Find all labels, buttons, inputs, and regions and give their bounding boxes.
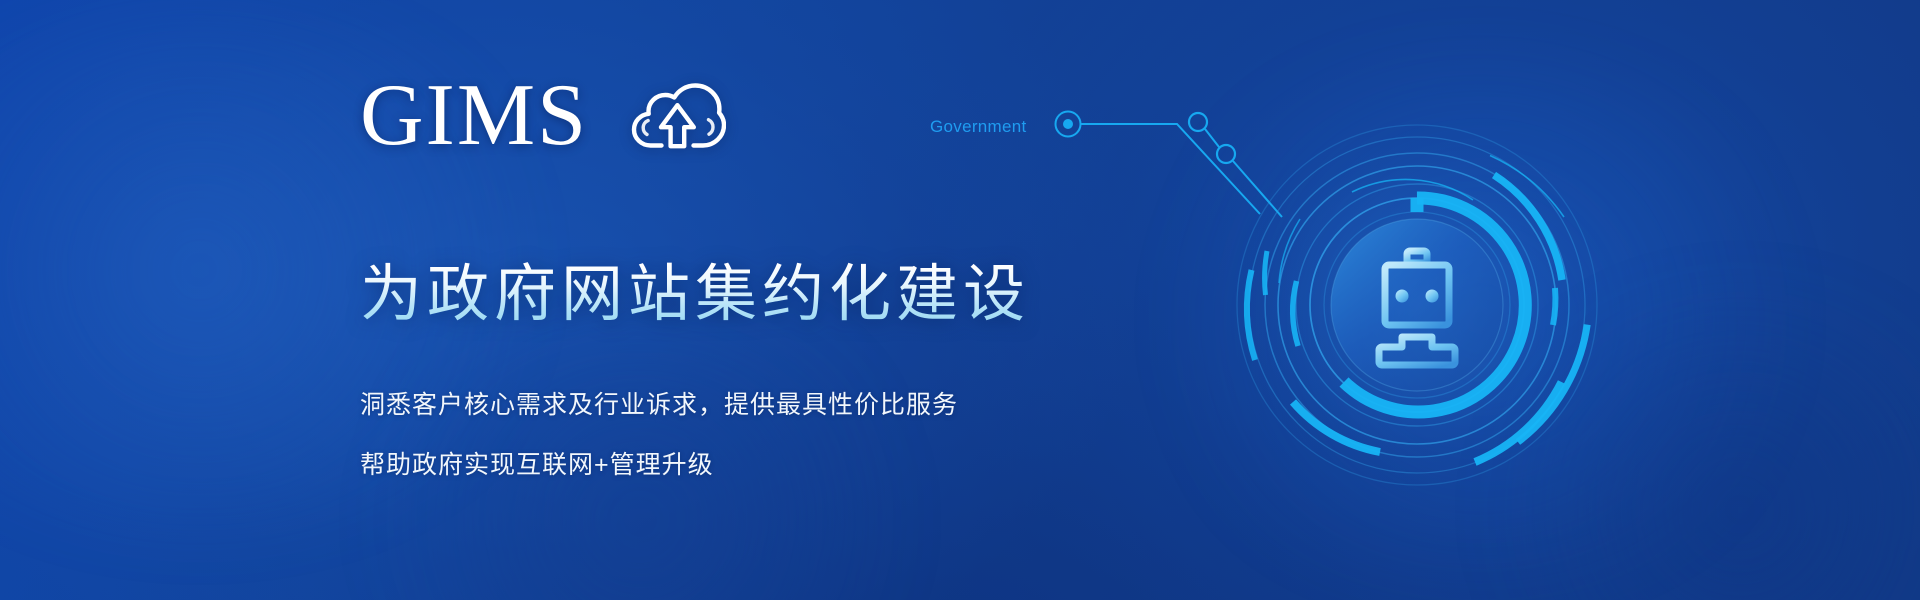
brand-logo-text: GIMS (360, 72, 588, 160)
cloud-upload-icon (630, 83, 726, 149)
hero-content: GIMS 为政府网站集约化建设 洞悉客户核心需求及行业诉求，提供最具性价比服务 … (360, 0, 1260, 600)
hero-subline-2: 帮助政府实现互联网+管理升级 (360, 453, 714, 478)
tech-ring-graphic (1232, 120, 1602, 490)
page-title: 为政府网站集约化建设 (360, 260, 1030, 329)
brand-lockup: GIMS (360, 72, 726, 160)
hero-subline-1: 洞悉客户核心需求及行业诉求，提供最具性价比服务 (360, 393, 958, 418)
gims-hero-banner: GIMS 为政府网站集约化建设 洞悉客户核心需求及行业诉求，提供最具性价比服务 … (0, 0, 1920, 600)
